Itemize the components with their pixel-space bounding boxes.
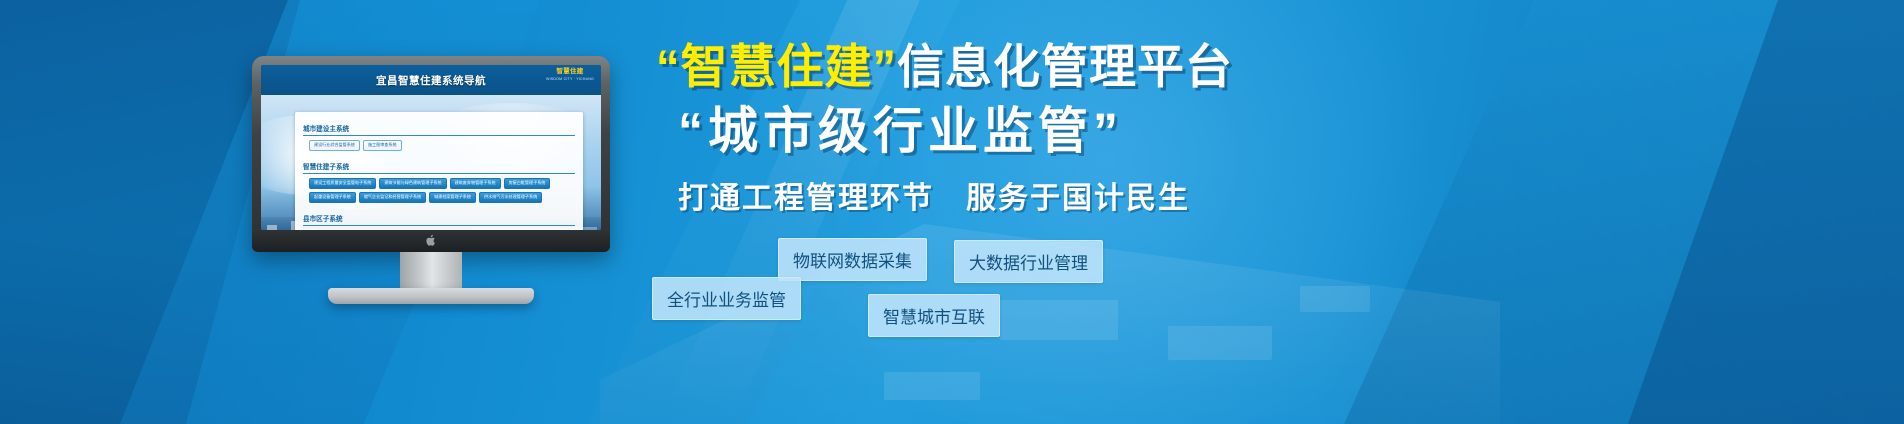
tag-all-industry-supervision[interactable]: 全行业业务监管 bbox=[652, 277, 801, 320]
system-pill[interactable]: 建筑节能与绿色建筑管理子系统 bbox=[379, 178, 446, 189]
system-pill[interactable]: 起重设备管理子系统 bbox=[309, 192, 356, 203]
apple-logo-icon bbox=[425, 234, 437, 247]
imac-illustration: 宜昌智慧住建系统导航 智慧住建 WISDOM CITY · YICHANG bbox=[252, 56, 610, 304]
quote-open: “ bbox=[656, 40, 681, 93]
headline-line-3: 打通工程管理环节 服务于国计民生 bbox=[678, 173, 1656, 217]
headline-line-2: “城市级行业监管” bbox=[678, 101, 1656, 161]
section-items-city-main[interactable]: 建设行业综合监管系统 施工图审查系统 bbox=[309, 140, 575, 151]
quote-close: ” bbox=[873, 40, 898, 93]
system-pill[interactable]: 房屋白蚍管理子系统 bbox=[504, 178, 551, 189]
headline-block: “智慧住建”信息化管理平台 “城市级行业监管” 打通工程管理环节 服务于国计民生 bbox=[656, 42, 1656, 217]
screen-header: 宜昌智慧住建系统导航 智慧住建 WISDOM CITY · YICHANG bbox=[261, 65, 601, 95]
system-pill[interactable]: 供水排气污水处理管理子系统 bbox=[479, 192, 542, 203]
tag-iot-data-collection[interactable]: 物联网数据采集 bbox=[778, 238, 927, 281]
system-pill[interactable]: 燃气企业监记和经营管理子系统 bbox=[359, 192, 426, 203]
section-title-city-main: 城市建设主系统 bbox=[303, 123, 575, 136]
imac-stand-neck bbox=[400, 252, 462, 292]
screen-logo-line2: WISDOM CITY · YICHANG bbox=[546, 78, 594, 82]
headline-rest-text: 信息化管理平台 bbox=[897, 40, 1233, 93]
section-title-county-district: 县市区子系统 bbox=[303, 213, 575, 226]
system-pill[interactable]: 建筑废弃物管理子系统 bbox=[450, 178, 501, 189]
tag-bigdata-industry-management[interactable]: 大数据行业管理 bbox=[954, 240, 1103, 283]
section-title-smart-housing: 智慧住建子系统 bbox=[303, 161, 575, 174]
promo-banner: 宜昌智慧住建系统导航 智慧住建 WISDOM CITY · YICHANG bbox=[0, 0, 1904, 424]
system-pill[interactable]: 建设行业综合监管系统 bbox=[309, 140, 360, 151]
ghost-rect-3 bbox=[1168, 326, 1272, 360]
system-pill[interactable]: 建设工程质量安全监管电子系统 bbox=[309, 178, 376, 189]
system-pill[interactable]: 施工图审查系统 bbox=[363, 140, 402, 151]
section-items-smart-housing[interactable]: 建设工程质量安全监管电子系统 建筑节能与绿色建筑管理子系统 建筑废弃物管理子系统… bbox=[309, 178, 575, 203]
screen-body: 城市建设主系统 建设行业综合监管系统 施工图审查系统 智慧住建子系统 建设工程质… bbox=[261, 95, 601, 230]
tag-smart-city-interconnection[interactable]: 智慧城市互联 bbox=[868, 294, 1000, 337]
imac-stand-foot bbox=[328, 288, 534, 304]
nav-panel: 城市建设主系统 建设行业综合监管系统 施工图审查系统 智慧住建子系统 建设工程质… bbox=[295, 112, 583, 230]
headline-highlight-text: 智慧住建 bbox=[681, 40, 873, 93]
imac-chin bbox=[252, 230, 610, 252]
imac-screen: 宜昌智慧住建系统导航 智慧住建 WISDOM CITY · YICHANG bbox=[261, 65, 601, 230]
screen-logo-line1: 智慧住建 bbox=[546, 69, 594, 76]
system-pill[interactable]: 城建档案管理子系统 bbox=[429, 192, 476, 203]
imac-body: 宜昌智慧住建系统导航 智慧住建 WISDOM CITY · YICHANG bbox=[252, 56, 610, 252]
screen-title: 宜昌智慧住建系统导航 bbox=[376, 73, 486, 88]
ghost-rect-1 bbox=[1000, 300, 1118, 340]
ghost-rect-2 bbox=[884, 372, 980, 400]
screen-logo: 智慧住建 WISDOM CITY · YICHANG bbox=[546, 69, 594, 81]
headline-line-1: “智慧住建”信息化管理平台 bbox=[656, 42, 1656, 93]
ghost-rect-4 bbox=[1300, 286, 1370, 312]
